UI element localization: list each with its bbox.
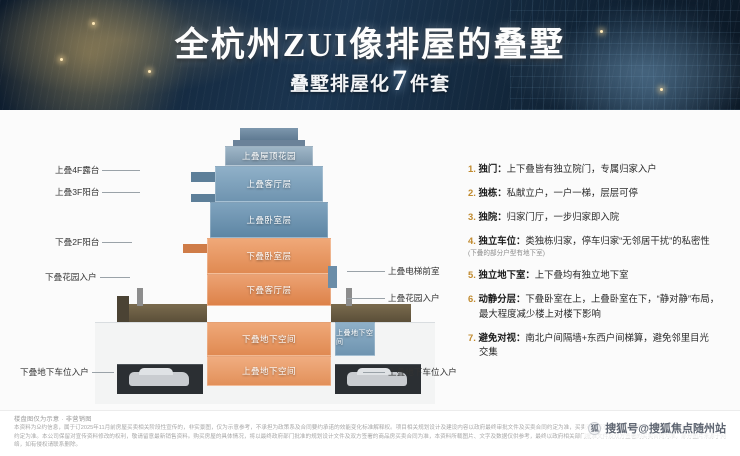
block-lower-underground-2: 上叠地下空间	[207, 356, 331, 386]
feature-body: 类独栋归家，停车归家“无邻居干扰”的私密性	[525, 235, 709, 246]
feature-number: 7.	[468, 332, 476, 343]
feature-title: 独门：	[478, 163, 506, 174]
sohu-logo-icon: 狐	[588, 422, 601, 435]
terrace-4f	[191, 172, 215, 182]
label-parking-entry-upper: 上叠地下车位入户	[388, 366, 457, 378]
banner-subtitle-left: 叠墅排屋化	[290, 74, 390, 95]
feature-item-3: 3. 独院：归家门厅，一步归家即入院	[468, 210, 730, 225]
feature-item-4: 4. 独立车位：类独栋归家，停车归家“无邻居干扰”的私密性 (下叠的部分户型有地…	[468, 234, 730, 258]
feature-number: 1.	[468, 163, 476, 174]
feature-body: 归家门厅，一步归家即入院	[507, 211, 620, 222]
block-lower-underground: 下叠地下空间	[207, 322, 331, 356]
car-roof-icon	[139, 368, 173, 375]
feature-body: 下叠卧室在上，上叠卧室在下，“静对静”布局，	[525, 293, 719, 304]
feature-title: 独院：	[478, 211, 506, 222]
feature-body-cont: 交集	[479, 345, 730, 360]
label-parking-entry-lower: 下叠地下车位入户	[20, 366, 89, 378]
feature-number: 5.	[468, 269, 476, 280]
block-label: 下叠客厅层	[208, 275, 330, 305]
feature-title: 独立地下室：	[478, 269, 534, 280]
feature-number: 6.	[468, 293, 476, 304]
block-label: 下叠地下空间	[208, 323, 330, 355]
block-label: 上叠卧室层	[211, 203, 327, 237]
garden-deck-left	[125, 304, 207, 322]
block-roof-garden: 上叠屋顶花园	[225, 146, 313, 166]
banner-title: 全杭州ZUI像排屋的叠墅	[0, 17, 740, 66]
feature-number: 2.	[468, 187, 476, 198]
feature-item-7: 7. 避免对视：南北户间隔墙+东西户间梯算，避免邻里目光 交集	[468, 331, 730, 360]
banner-subtitle-right: 件套	[410, 74, 450, 95]
disclaimer-title: 楼盘图仅为示意 · 非营销图	[14, 414, 92, 423]
block-label: 上叠地下空间	[208, 357, 330, 385]
feature-body: 上下叠皆有独立院门，专属归家入户	[507, 163, 657, 174]
block-label: 上叠地下空间	[336, 323, 374, 355]
main-content: 上叠屋顶花园 上叠客厅层 上叠卧室层 下叠卧室层 下叠客厅层	[0, 110, 740, 410]
feature-title: 独栋：	[478, 187, 506, 198]
banner-subtitle-number: 7	[390, 64, 410, 97]
feature-title: 避免对视：	[478, 332, 525, 343]
block-upper-living: 上叠客厅层	[215, 166, 323, 202]
label-terrace-4f: 上叠4F露台	[55, 164, 99, 176]
balcony-3f	[191, 194, 215, 202]
feature-note: (下叠的部分户型有地下室)	[468, 250, 730, 259]
label-elevator-lobby: 上叠电梯前室	[388, 265, 440, 277]
label-garden-entry-lower: 下叠花园入户	[45, 271, 97, 283]
feature-title: 动静分层：	[478, 293, 525, 304]
watermark: 狐 搜狐号@搜狐焦点随州站	[584, 418, 730, 438]
feature-body: 南北户间隔墙+东西户间梯算，避免邻里目光	[525, 332, 709, 343]
feature-item-1: 1. 独门：上下叠皆有独立院门，专属归家入户	[468, 162, 730, 177]
feature-number: 3.	[468, 211, 476, 222]
block-label: 上叠屋顶花园	[226, 147, 312, 165]
page-root: 全杭州ZUI像排屋的叠墅 叠墅排屋化7件套 上叠屋顶花园 上叠客厅层	[0, 0, 740, 456]
label-balcony-2f: 下叠2F阳台	[55, 236, 99, 248]
feature-item-6: 6. 动静分层：下叠卧室在上，上叠卧室在下，“静对静”布局， 最大程度减少楼上对…	[468, 292, 730, 321]
feature-title: 独立车位：	[478, 235, 525, 246]
block-upper-bedroom: 上叠卧室层	[210, 202, 328, 238]
watermark-text: 搜狐号@搜狐焦点随州站	[605, 420, 726, 436]
label-balcony-3f: 上叠3F阳台	[55, 186, 99, 198]
feature-body: 上下叠均有独立地下室	[535, 269, 629, 280]
garden-deck-right	[331, 304, 411, 322]
label-garden-entry-upper: 上叠花园入户	[388, 292, 440, 304]
feature-body-cont: 最大程度减少楼上对楼下影响	[479, 307, 730, 322]
block-label: 上叠客厅层	[216, 167, 322, 201]
roof-cap	[240, 128, 298, 140]
header-banner: 全杭州ZUI像排屋的叠墅 叠墅排屋化7件套	[0, 0, 740, 110]
feature-number: 4.	[468, 235, 476, 246]
lamp-post	[346, 288, 352, 306]
block-upper-underground-right: 上叠地下空间	[335, 322, 375, 356]
block-lower-bedroom: 下叠卧室层	[207, 238, 331, 274]
garden-post-left	[117, 296, 129, 322]
feature-item-5: 5. 独立地下室：上下叠均有独立地下室	[468, 268, 730, 283]
lamp-post	[137, 288, 143, 306]
balcony-2f	[183, 244, 207, 253]
elevator-shaft	[328, 266, 337, 288]
banner-subtitle: 叠墅排屋化7件套	[0, 64, 740, 98]
block-lower-living: 下叠客厅层	[207, 274, 331, 306]
block-label: 下叠卧室层	[208, 239, 330, 273]
building-diagram: 上叠屋顶花园 上叠客厅层 上叠卧室层 下叠卧室层 下叠客厅层	[95, 116, 435, 404]
feature-list: 1. 独门：上下叠皆有独立院门，专属归家入户 2. 独栋：私献立户，一户一梯，层…	[468, 162, 730, 369]
feature-body: 私献立户，一户一梯，层层可停	[507, 187, 638, 198]
feature-item-2: 2. 独栋：私献立户，一户一梯，层层可停	[468, 186, 730, 201]
